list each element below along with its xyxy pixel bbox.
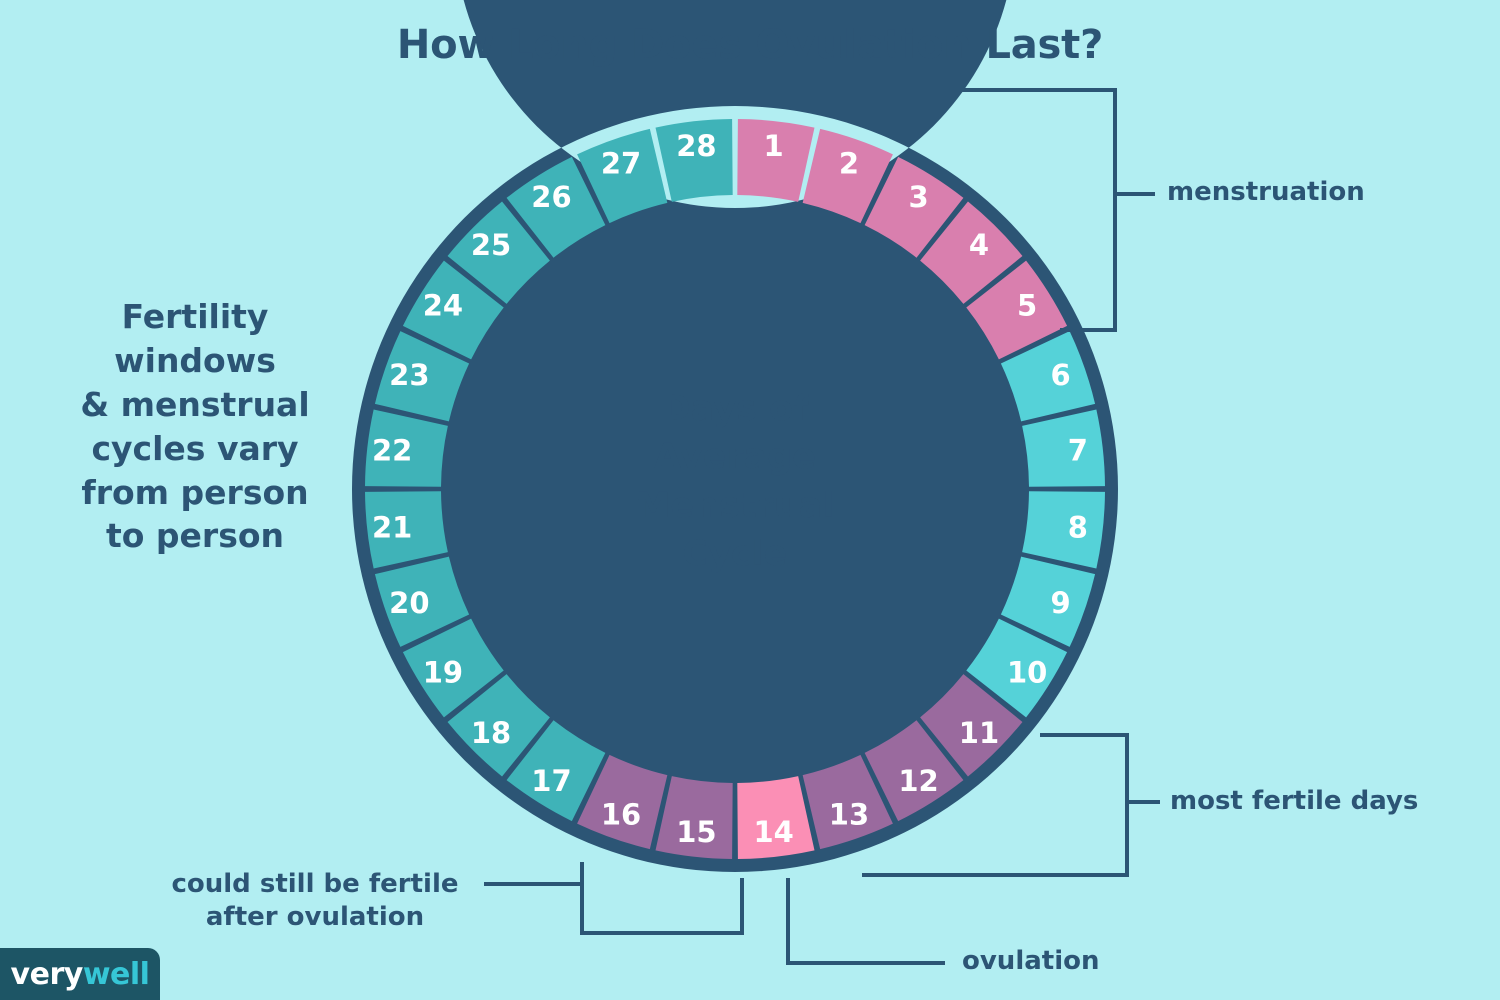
center-label-line-2: Average bbox=[585, 433, 885, 481]
verywell-logo: verywell bbox=[0, 948, 160, 1000]
day-number-28: 28 bbox=[676, 129, 716, 163]
side-note-line-6: to person bbox=[55, 514, 335, 558]
center-label-line-3: Menstrual bbox=[585, 482, 885, 530]
day-number-23: 23 bbox=[389, 358, 429, 392]
center-label-line-4: Cycle bbox=[585, 530, 885, 578]
day-number-24: 24 bbox=[423, 288, 463, 322]
day-number-25: 25 bbox=[471, 228, 511, 262]
page-title: How Long Does Ovulation Last? bbox=[0, 22, 1500, 68]
day-number-14: 14 bbox=[753, 815, 793, 849]
day-number-1: 1 bbox=[764, 129, 784, 163]
day-number-10: 10 bbox=[1007, 656, 1047, 690]
callout-most-fertile-days: most fertile days bbox=[1170, 785, 1418, 818]
day-number-13: 13 bbox=[829, 798, 869, 832]
ring-center-label: Days of Average Menstrual Cycle bbox=[585, 385, 885, 578]
day-number-7: 7 bbox=[1068, 433, 1088, 467]
day-number-5: 5 bbox=[1017, 288, 1037, 322]
side-note-line-1: Fertility bbox=[55, 295, 335, 339]
day-number-11: 11 bbox=[959, 716, 999, 750]
day-number-8: 8 bbox=[1068, 511, 1088, 545]
day-number-4: 4 bbox=[969, 228, 989, 262]
day-number-2: 2 bbox=[839, 146, 859, 180]
bracket-ovulation bbox=[788, 878, 945, 963]
day-number-26: 26 bbox=[531, 180, 571, 214]
callout-after-ovulation: could still be fertile after ovulation bbox=[155, 868, 475, 935]
callout-after-ovulation-line-1: could still be fertile bbox=[155, 868, 475, 901]
day-number-15: 15 bbox=[676, 815, 716, 849]
day-number-19: 19 bbox=[423, 656, 463, 690]
side-note-line-2: windows bbox=[55, 339, 335, 383]
infographic-canvas: 1234567891011121314151617181920212223242… bbox=[0, 0, 1500, 1000]
side-note-line-3: & menstrual bbox=[55, 383, 335, 427]
day-number-18: 18 bbox=[471, 716, 511, 750]
day-number-20: 20 bbox=[389, 586, 429, 620]
logo-text-well: well bbox=[83, 957, 150, 992]
day-number-22: 22 bbox=[372, 433, 412, 467]
callout-after-ovulation-line-2: after ovulation bbox=[155, 901, 475, 934]
side-note-line-4: cycles vary bbox=[55, 427, 335, 471]
callout-menstruation: menstruation bbox=[1167, 176, 1365, 209]
side-note-text: Fertility windows & menstrual cycles var… bbox=[55, 295, 335, 558]
day-number-12: 12 bbox=[898, 764, 938, 798]
logo-text-very: very bbox=[11, 957, 83, 992]
day-number-17: 17 bbox=[531, 764, 571, 798]
day-number-27: 27 bbox=[601, 146, 641, 180]
day-number-3: 3 bbox=[908, 180, 928, 214]
side-note-line-5: from person bbox=[55, 471, 335, 515]
center-label-line-1: Days of bbox=[585, 385, 885, 433]
day-number-6: 6 bbox=[1051, 358, 1071, 392]
day-number-9: 9 bbox=[1051, 586, 1071, 620]
bracket-after-ovulation bbox=[582, 862, 742, 933]
day-number-16: 16 bbox=[601, 798, 641, 832]
callout-ovulation: ovulation bbox=[962, 945, 1100, 978]
day-number-21: 21 bbox=[372, 511, 412, 545]
